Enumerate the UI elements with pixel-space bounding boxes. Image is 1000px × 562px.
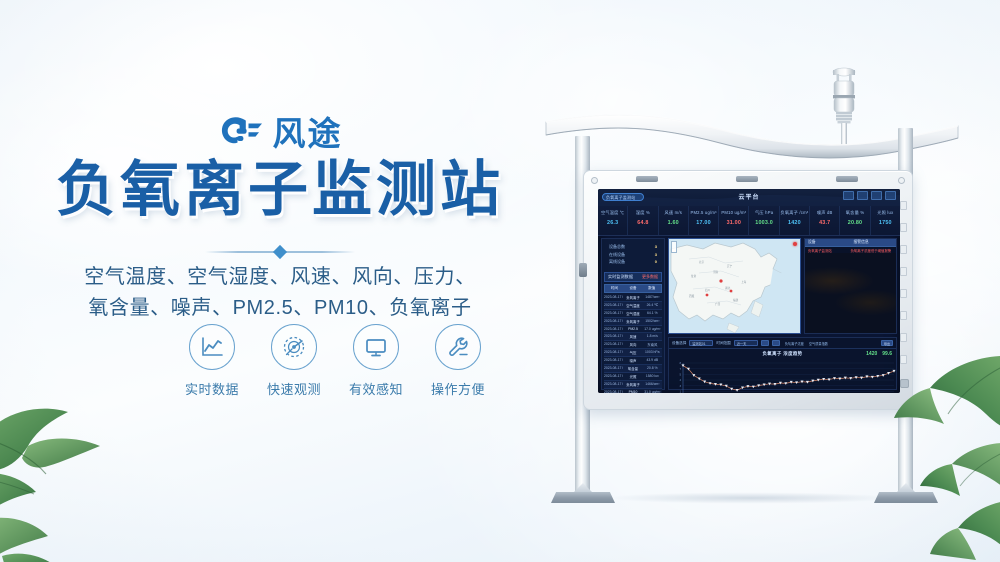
table-cell: 17.0 ug/m³ xyxy=(643,327,662,331)
table-cell: 2023-08-17 08:50 xyxy=(604,327,623,331)
kpi-value: 1003.0 xyxy=(749,220,778,226)
svg-text:湖北: 湖北 xyxy=(725,286,731,290)
kpi-label: 空气温度 ℃ xyxy=(598,210,627,215)
device-summary-row: 在线设备3 xyxy=(605,251,661,259)
svg-text:辽宁: 辽宁 xyxy=(727,264,733,268)
svg-text:1: 1 xyxy=(680,391,682,393)
summary-value: 3 xyxy=(655,252,657,258)
summary-value: 0 xyxy=(655,259,657,265)
table-cell: 2023-08-17 08:10 xyxy=(604,358,623,363)
layers-icon[interactable] xyxy=(843,191,854,200)
chart-legend-2[interactable]: 空气质量指数 xyxy=(809,341,828,346)
table-row[interactable]: 2023-08-17 08:40风速1.8 m/s xyxy=(604,333,662,341)
table-cell: 光照 xyxy=(623,374,642,379)
kpi-label: 湿度 % xyxy=(628,210,657,215)
table-cell: 2023-08-17 07:50 xyxy=(604,374,623,379)
table-cell: 26.4 ℃ xyxy=(643,303,662,308)
dashboard-screen[interactable]: 负氧离子监测站 云平台 空气温度 ℃26.3湿度 %64.8风速 m/s1.60… xyxy=(598,189,900,393)
table-cell: 氧含量 xyxy=(623,366,642,371)
device-summary-row: 设备总数3 xyxy=(605,243,661,251)
kpi-cell: 氧含量 %20.80 xyxy=(840,206,870,235)
china-map[interactable]: 北京甘肃 河南辽宁 四川湖北 广西福建 西藏上海 xyxy=(668,238,801,334)
table-cell: 31.0 ug/m³ xyxy=(643,390,662,393)
table-cell: PM2.5 xyxy=(623,327,642,331)
table-row[interactable]: 2023-08-17 09:00负氧离子1502/cm³ xyxy=(604,318,662,326)
table-cell: 2023-08-17 08:40 xyxy=(604,334,623,339)
kpi-value: 43.7 xyxy=(810,220,839,226)
chart-filter-label: 设备选择 xyxy=(672,341,686,346)
chart-refresh-button[interactable] xyxy=(772,340,780,346)
table-cell: 1003 hPa xyxy=(643,350,662,355)
svg-text:福建: 福建 xyxy=(733,298,739,302)
summary-label: 在线设备 xyxy=(609,252,625,258)
svg-text:四川: 四川 xyxy=(705,288,711,292)
table-cell: 43.9 dB xyxy=(643,358,662,363)
summary-label: 设备总数 xyxy=(609,244,625,250)
brand-name: 风途 xyxy=(273,117,343,150)
table-cell: 2023-08-17 09:00 xyxy=(604,319,623,324)
table-header-bar: 实时监测数据 更多数据 xyxy=(604,272,662,282)
radar-scan-icon xyxy=(271,324,317,370)
housing-clamp xyxy=(736,176,758,182)
svg-text:3: 3 xyxy=(680,385,682,388)
promo-banner: 风途 负氧离子监测站 空气温度、空气湿度、风速、风向、压力、 氧含量、噪声、PM… xyxy=(0,0,1000,562)
subtitle-line-2: 氧含量、噪声、PM2.5、PM10、负氧离子 xyxy=(0,293,560,324)
table-cell: 1.8 m/s xyxy=(643,334,662,339)
table-cell: 气压 xyxy=(623,350,642,355)
svg-text:7: 7 xyxy=(680,368,682,371)
feature-label: 有效感知 xyxy=(344,379,408,398)
chart-view-button[interactable] xyxy=(761,340,769,346)
housing-port xyxy=(579,263,587,277)
table-cell: 噪声 xyxy=(623,358,642,363)
table-row[interactable]: 2023-08-17 09:20空气温度26.4 ℃ xyxy=(604,302,662,310)
table-row[interactable]: 2023-08-17 08:10噪声43.9 dB xyxy=(604,357,662,365)
feature-label: 实时数据 xyxy=(180,379,244,398)
chart-toolbar[interactable]: 设备选择 监测站01 时间范围 近一天 负氧离子浓度 空气质量指数 导出 xyxy=(669,338,896,349)
chart-readout-1: 1420 xyxy=(866,351,877,357)
page-title: 负氧离子监测站 xyxy=(0,158,560,222)
device-summary: 设备总数3在线设备3离线设备0 xyxy=(602,239,664,269)
feature-list: 实时数据 快速观测 xyxy=(180,324,490,398)
kpi-strip: 空气温度 ℃26.3湿度 %64.8风速 m/s1.60PM2.5 ug/m³1… xyxy=(598,206,900,236)
summary-value: 3 xyxy=(655,244,657,250)
kpi-label: PM2.5 ug/m³ xyxy=(689,210,718,215)
table-column-header: 时间 xyxy=(605,286,624,291)
svg-text:甘肃: 甘肃 xyxy=(691,274,697,278)
kpi-cell: 噪声 dB43.7 xyxy=(810,206,840,235)
table-cell: 2023-08-17 08:30 xyxy=(604,342,623,347)
kpi-label: 噪声 dB xyxy=(810,210,839,215)
table-row[interactable]: 2023-08-17 08:00氧含量20.8 % xyxy=(604,365,662,373)
dashboard-toolbar[interactable] xyxy=(843,191,896,200)
kpi-cell: 气压 hPa1003.0 xyxy=(749,206,779,235)
kpi-cell: 光照 lux1750 xyxy=(871,206,900,235)
fengtu-wind-g-logo-icon xyxy=(218,112,264,154)
kpi-value: 17.00 xyxy=(689,220,718,226)
chart-legend-1[interactable]: 负氧离子浓度 xyxy=(785,341,804,346)
monitor-icon xyxy=(353,324,399,370)
table-title: 实时监测数据 xyxy=(608,274,633,280)
table-rows: 2023-08-17 09:30负氧离子1487/cm³2023-08-17 0… xyxy=(604,294,662,393)
chart-plot-area: 013457800:0000:3001:0001:3002:0002:3003:… xyxy=(669,360,896,389)
chart-title: 负氧离子 浓度趋势 xyxy=(669,349,896,357)
base-plate-left xyxy=(551,486,615,503)
table-row[interactable]: 2023-08-17 08:30风向东南风 xyxy=(604,341,662,349)
table-columns: 时间设备数值 xyxy=(604,284,662,293)
table-cell: 2023-08-17 09:30 xyxy=(604,295,623,300)
table-row[interactable]: 2023-08-17 09:30负氧离子1487/cm³ xyxy=(604,294,662,302)
table-cell: 风向 xyxy=(623,342,642,347)
table-column-header: 数值 xyxy=(642,286,661,291)
table-cell: 东南风 xyxy=(643,342,662,347)
kpi-cell: PM2.5 ug/m³17.00 xyxy=(689,206,719,235)
housing-clamp xyxy=(836,176,858,182)
svg-text:5: 5 xyxy=(680,374,682,377)
kpi-value: 26.3 xyxy=(598,220,627,226)
map-pin-icon[interactable] xyxy=(793,242,797,246)
table-cell: 2023-08-17 09:20 xyxy=(604,303,623,308)
feature-item-easy-operation: 操作方便 xyxy=(426,324,490,398)
kpi-value: 64.8 xyxy=(628,220,657,226)
table-cell: 20.8 % xyxy=(643,366,662,371)
kpi-label: 负氧离子 /cm³ xyxy=(780,210,809,215)
map-zoom-control[interactable] xyxy=(671,241,677,253)
table-cell: 64.1 % xyxy=(643,311,662,316)
alarm-panel: 设备报警信息 负氧离子监测站负氧离子浓度低于阈值报警 xyxy=(804,238,897,334)
table-cell: 1502/cm³ xyxy=(643,319,662,324)
housing-clamp xyxy=(636,176,658,182)
svg-text:西藏: 西藏 xyxy=(689,294,695,298)
feature-label: 操作方便 xyxy=(426,379,490,398)
feature-item-effective-sensing: 有效感知 xyxy=(344,324,408,398)
svg-text:8: 8 xyxy=(680,362,682,365)
user-icon[interactable] xyxy=(871,191,882,200)
table-cell: 负氧离子 xyxy=(623,382,642,387)
table-row[interactable]: 2023-08-17 08:20气压1003 hPa xyxy=(604,349,662,357)
kpi-cell: PM10 ug/m³31.00 xyxy=(719,206,749,235)
settings-icon[interactable] xyxy=(857,191,868,200)
chart-device-select[interactable]: 监测站01 xyxy=(689,340,713,346)
table-row[interactable]: 2023-08-17 07:30PM1031.0 ug/m³ xyxy=(604,389,662,393)
kpi-value: 1750 xyxy=(871,220,900,226)
wrench-icon xyxy=(435,324,481,370)
housing-bolt-icon xyxy=(591,177,598,184)
kpi-label: 气压 hPa xyxy=(749,210,778,215)
kpi-label: 光照 lux xyxy=(871,210,900,215)
table-cell: 空气温度 xyxy=(623,303,642,308)
table-row[interactable]: 2023-08-17 09:10空气湿度64.1 % xyxy=(604,310,662,318)
svg-text:广西: 广西 xyxy=(715,302,721,306)
table-cell: 1466/cm³ xyxy=(643,382,662,387)
dashboard-body: 设备总数3在线设备3离线设备0 实时监测数据 更多数据 时间设备数值 2023-… xyxy=(598,236,900,393)
line-chart-icon xyxy=(189,324,235,370)
table-cell: 2023-08-17 08:00 xyxy=(604,366,623,371)
kpi-cell: 负氧离子 /cm³1420 xyxy=(780,206,810,235)
decorative-leaves-right xyxy=(886,348,1000,562)
table-cell: 负氧离子 xyxy=(623,319,642,324)
chart-download-button[interactable]: 导出 xyxy=(881,340,893,346)
housing-bolt-icon xyxy=(898,177,905,184)
decorative-leaves-left xyxy=(0,370,126,562)
feature-item-realtime-data: 实时数据 xyxy=(180,324,244,398)
feature-item-fast-observation: 快速观测 xyxy=(262,324,326,398)
table-cell: 负氧离子 xyxy=(623,295,642,300)
table-cell: 2023-08-17 09:10 xyxy=(604,311,623,316)
alarm-column-header: 设备 xyxy=(805,239,851,246)
summary-label: 离线设备 xyxy=(609,259,625,265)
subtitle-line-1: 空气温度、空气湿度、风速、风向、压力、 xyxy=(0,262,560,293)
alarm-columns: 设备报警信息 xyxy=(805,239,896,247)
svg-text:上海: 上海 xyxy=(741,280,747,284)
table-cell: 1487/cm³ xyxy=(643,295,662,300)
table-cell: 空气湿度 xyxy=(623,311,642,316)
table-cell: PM10 xyxy=(623,390,642,393)
table-cell: 2023-08-17 08:20 xyxy=(604,350,623,355)
kpi-value: 1420 xyxy=(780,220,809,226)
trend-chart-panel: 设备选择 监测站01 时间范围 近一天 负氧离子浓度 空气质量指数 导出 负氧离… xyxy=(668,337,897,390)
alarm-column-header: 报警信息 xyxy=(851,239,897,246)
table-row[interactable]: 2023-08-17 07:40负氧离子1466/cm³ xyxy=(604,381,662,389)
chart-date-label: 时间范围 xyxy=(716,341,730,346)
feature-label: 快速观测 xyxy=(262,379,326,398)
kpi-value: 20.80 xyxy=(840,220,869,226)
subtitle: 空气温度、空气湿度、风速、风向、压力、 氧含量、噪声、PM2.5、PM10、负氧… xyxy=(0,262,560,324)
title-divider xyxy=(205,247,355,257)
svg-text:4: 4 xyxy=(680,379,682,382)
device-summary-row: 离线设备0 xyxy=(605,258,661,266)
kpi-value: 1.60 xyxy=(659,220,688,226)
display-housing: 负氧离子监测站 云平台 空气温度 ℃26.3湿度 %64.8风速 m/s1.60… xyxy=(583,170,913,410)
table-more-link[interactable]: 更多数据 xyxy=(642,274,658,280)
alarm-panel-backdrop xyxy=(805,253,896,333)
table-row[interactable]: 2023-08-17 08:50PM2.517.0 ug/m³ xyxy=(604,326,662,333)
kpi-label: 风速 m/s xyxy=(659,210,688,215)
kpi-cell: 风速 m/s1.60 xyxy=(659,206,689,235)
kpi-cell: 湿度 %64.8 xyxy=(628,206,658,235)
left-panel: 设备总数3在线设备3离线设备0 实时监测数据 更多数据 时间设备数值 2023-… xyxy=(601,238,665,390)
brand-lockup: 风途 xyxy=(0,112,560,154)
table-cell: 1580 lux xyxy=(643,374,662,379)
kpi-value: 31.00 xyxy=(719,220,748,226)
table-cell: 风速 xyxy=(623,334,642,339)
kpi-cell: 空气温度 ℃26.3 xyxy=(598,206,628,235)
logout-icon[interactable] xyxy=(885,191,896,200)
table-row[interactable]: 2023-08-17 07:50光照1580 lux xyxy=(604,373,662,381)
kpi-label: PM10 ug/m³ xyxy=(719,210,748,215)
svg-text:河南: 河南 xyxy=(713,270,719,274)
kpi-label: 氧含量 % xyxy=(840,210,869,215)
chart-date-select[interactable]: 近一天 xyxy=(734,340,758,346)
svg-text:北京: 北京 xyxy=(699,260,705,264)
table-column-header: 设备 xyxy=(624,286,643,291)
table-cell: 2023-08-17 07:40 xyxy=(604,382,623,387)
table-cell: 2023-08-17 07:30 xyxy=(604,390,623,393)
dashboard-header: 负氧离子监测站 云平台 xyxy=(598,189,900,206)
